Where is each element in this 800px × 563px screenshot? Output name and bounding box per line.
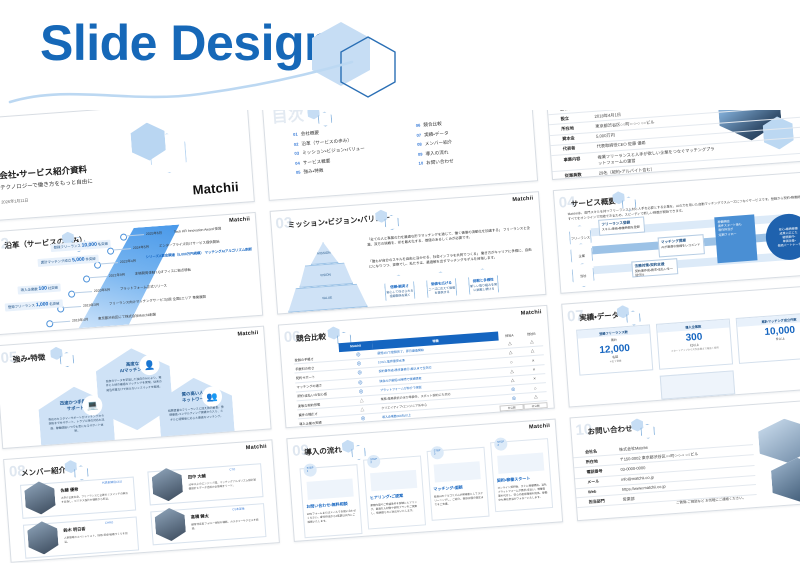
- watermark-logo: Matchii: [512, 196, 533, 204]
- slide-title: 強み・特徴: [12, 352, 45, 365]
- step-illustration: [370, 470, 417, 491]
- milestone-label: 登録フリーランス: [8, 303, 35, 309]
- rating-a: ◎: [502, 386, 524, 394]
- rating-matchii: ◎: [343, 378, 377, 386]
- milestone-unit: 社突破: [48, 286, 58, 291]
- rating-matchii: △: [345, 406, 379, 414]
- slide-title: 実績・データ: [579, 310, 620, 324]
- brand-logo: Matchii: [192, 179, 239, 197]
- stat-card-companies: 導入企業数 300 社以上 スタートアップから大手企業まで幅広く採用: [656, 318, 733, 369]
- milestone-chip: 累計マッチング成立 5,000 件突破: [37, 255, 99, 267]
- row-key: 設立: [548, 114, 594, 123]
- slide-thumbnail-cover[interactable]: 会社・サービス紹介資料 テクノロジーで働き方をもっと自由に 2026年1月11日…: [0, 98, 255, 221]
- row-value: 株式会社Matchii: [619, 444, 648, 452]
- milestone-value: 100: [38, 285, 47, 292]
- card-desc: 契約書作成・請求・支払いを一括代行: [635, 266, 676, 277]
- slide-thumbnail-service[interactable]: Matchii 04 サービス概要 Matchiiは、専門スキルを持つフリーラン…: [553, 170, 800, 293]
- slide-thumbnail-results[interactable]: Matchii 07 実績・データ 登録フリーランス数 累計 12,000 名超…: [561, 284, 800, 407]
- watermark-logo: Matchii: [521, 309, 542, 317]
- toc-number: 03: [294, 151, 299, 156]
- slide-thumbnail-strength[interactable]: Matchii 05 強み・特徴 高度な AIマッチング 独自のデータを学習した…: [0, 326, 272, 449]
- toc-label: 沿革（サービスの歩み）: [301, 137, 352, 147]
- timeline-connector: [89, 276, 107, 278]
- toc-number: 05: [296, 170, 301, 175]
- row-value: https://www.matchii.co.jp: [622, 484, 666, 492]
- watermark-logo: Matchii: [229, 216, 250, 224]
- rating-matchii: ◎: [343, 369, 377, 377]
- stat-card-extra: [660, 370, 736, 399]
- service-card-2: マッチング提案 AIが最適な候補をレコメンド: [658, 234, 705, 257]
- row-key: 電話番号: [574, 467, 620, 476]
- pyramid-level-value: VALUE: [286, 283, 368, 313]
- rating-a: △: [501, 377, 523, 385]
- slide-thumbnail-flow[interactable]: Matchii 09 導入の流れ STEP 1 お問い合わせ・無料相談 Webフ…: [286, 419, 563, 542]
- strength-desc: 専任のカスタマーサポートがマッチングから契約までをサポート。トラブル時の対応も迅…: [48, 414, 105, 434]
- toc-label: 実績・データ: [424, 130, 449, 138]
- row-key: 事業内容: [551, 154, 598, 169]
- milestone-unit: 件突破: [85, 257, 95, 262]
- rating-b: △: [521, 338, 543, 346]
- value-desc: 新しい取り組みを常に挑戦し続ける: [470, 282, 499, 292]
- toc-label: メンバー紹介: [425, 139, 453, 147]
- stat-card-matches: 累計マッチング成立件数 10,000 件以上: [736, 312, 800, 364]
- row-key: 資本金: [550, 134, 596, 143]
- strength-desc: 経験豊富なフリーランスに加え独自審査。登録審査・コンサルティング実績から入り、ス…: [168, 405, 225, 421]
- toc-number: 10: [418, 161, 423, 166]
- strength-desc: 独自のデータを学習した独自のAIにより、案件と人材の最適なマッチングを実現。従来…: [106, 376, 163, 392]
- cover-date: 2026年1月11日: [1, 198, 29, 206]
- rating-b: ×: [522, 357, 544, 364]
- toc-column-left: 01会社概要 02沿革（サービスの歩み） 03ミッション・ビジョン・バリュー 0…: [293, 124, 405, 179]
- col-head-b: 他社B: [520, 328, 543, 339]
- rating-matchii: ◎: [342, 360, 376, 368]
- actor-us: 当社: [571, 262, 595, 288]
- row-value: 営業部: [622, 495, 634, 502]
- slide-thumbnail-history[interactable]: Matchii 02 沿革（サービスの歩み） 2018年4月 東京都渋谷区にて株…: [0, 212, 263, 335]
- step-illustration: [434, 461, 481, 482]
- value-hex-2: 価値を広げる ニーズに応えて価値を提供する: [426, 270, 458, 305]
- watermark-logo: Matchii: [237, 330, 258, 338]
- toc-column-right: 06競合比較 07実績・データ 08メンバー紹介 09導入の流れ 10お問い合わ…: [416, 115, 528, 170]
- row-key: 所在地: [574, 457, 620, 466]
- toc-number: 04: [295, 160, 300, 165]
- rating-b: △: [525, 393, 547, 401]
- slide-thumbnail-mission[interactable]: Matchii 03 ミッション・ビジョン・バリュー MISSION VISIO…: [270, 191, 547, 314]
- rating-b: ○: [524, 385, 546, 392]
- rating-a: △: [499, 340, 521, 348]
- step-illustration: [307, 479, 354, 500]
- value-hex-3: 挑戦と多様性 新しい取り組みを常に挑戦し続ける: [467, 267, 499, 302]
- row-value: 5,000万円: [596, 133, 615, 140]
- toc-label: ミッション・ビジョン・バリュー: [302, 146, 365, 157]
- toc-label: お問い合わせ: [426, 158, 454, 166]
- pyramid-diagram: MISSION VISION VALUE: [283, 239, 366, 311]
- row-key: 会社名: [573, 447, 619, 456]
- milestone-value: 5,000: [72, 257, 85, 264]
- rating-b: 非公開: [523, 402, 547, 410]
- comparison-table: Matchii 特徴 他社A 他社B 登録の手軽さ◎最短3分で登録完了、即日審査…: [293, 328, 548, 428]
- milestone-unit: 名突破: [49, 302, 59, 307]
- service-card-1: フリーランス登録 スキル・単価・稼働時間を登録: [598, 216, 645, 235]
- toc-number: 07: [416, 132, 421, 137]
- milestone-value: 10,000: [81, 242, 97, 249]
- rating-a: ○: [500, 359, 522, 366]
- milestone-chip: 導入企業数 100 社突破: [17, 283, 61, 294]
- row-value: info@matchii.co.jp: [621, 475, 654, 483]
- member-role: CTO: [229, 467, 235, 471]
- milestone-unit: 名突破: [98, 242, 108, 247]
- row-value: 03-0000-0000: [620, 465, 645, 473]
- rating-a: 非公開: [499, 404, 523, 412]
- rating-matchii: ◎: [344, 387, 378, 395]
- row-key: 従業員数: [553, 170, 599, 179]
- toc-label: 導入の流れ: [425, 149, 448, 157]
- timeline-text: Tech HR Innovation Award 受賞: [174, 225, 222, 233]
- pyramid-level-mission: MISSION: [309, 241, 339, 265]
- row-key: 代表者: [551, 144, 597, 153]
- stat-card-freelancers: 登録フリーランス数 累計 12,000 名超 ※全て登録: [576, 324, 653, 375]
- rating-matchii: △: [345, 396, 379, 404]
- slide-thumbnail-members[interactable]: Matchii 08 メンバー紹介 代表取締役CEO 佐藤 優希 大手IT企業出…: [3, 439, 280, 562]
- value-hex-1: 信頼・誠実さ 安心して任せられる信頼関係を築く: [384, 274, 416, 309]
- timeline-connector: [74, 291, 92, 293]
- page-header: Slide Design: [0, 0, 800, 110]
- milestone-chip: 登録フリーランス 1,000 名突破: [5, 299, 63, 311]
- rating-matchii: ◎: [341, 351, 375, 359]
- vision-text: 「誰もが自分のスキルを自由に活かせる、社会インフラを共同でつくる」 働き方がキャ…: [368, 248, 532, 270]
- milestone-value: 1,000: [36, 301, 49, 308]
- member-role: CHRO: [105, 520, 114, 525]
- value-desc: 安心して任せられる信頼関係を築く: [386, 289, 415, 299]
- toc-label: 強み・特徴: [303, 168, 323, 175]
- slide-title: ミッション・ビジョン・バリュー: [287, 212, 390, 230]
- rating-b: ×: [523, 375, 545, 382]
- col-head-a: 他社A: [498, 330, 521, 341]
- service-panel: 稼働開始 案件スタート後も 専任担当が 定期フォロー: [714, 214, 757, 263]
- toc-number: 06: [416, 123, 421, 128]
- wave-divider-icon: [0, 60, 400, 110]
- slide-thumbnail-compare[interactable]: Matchii 06 競合比較 Matchii 特徴 他社A 他社B 登録の手軽…: [278, 305, 555, 428]
- slide-title: サービス概要: [571, 196, 617, 210]
- toc-number: 08: [417, 142, 422, 147]
- flow-band: [594, 252, 794, 275]
- timeline-connector: [52, 321, 70, 323]
- timeline-connector: [63, 306, 81, 308]
- watermark-logo: Matchii: [529, 423, 550, 431]
- step-illustration: [497, 453, 544, 474]
- slide-title: 導入の流れ: [304, 444, 342, 458]
- slide-title: メンバー紹介: [21, 465, 67, 479]
- rating-a: △: [501, 367, 523, 375]
- row-key: 所在地: [549, 124, 595, 133]
- toc-label: サービス概要: [303, 158, 331, 166]
- slide-thumbnail-contact[interactable]: Matchii 10 お問い合わせ 会社名株式会社Matchii 所在地〒150…: [570, 398, 800, 521]
- toc-number: 09: [418, 151, 423, 156]
- rating-b: △: [521, 347, 543, 355]
- milestone-label: 登録フリーランス: [54, 244, 81, 250]
- service-card-3: 法務対策・契約支援 契約書作成・請求・支払いを一括代行: [631, 258, 678, 277]
- slide-title: 競合比較: [296, 331, 327, 344]
- rating-a: △: [499, 349, 521, 357]
- rating-a: ◎: [503, 395, 525, 403]
- toc-label: 会社概要: [301, 130, 320, 137]
- watermark-logo: Matchii: [246, 444, 267, 452]
- toc-number: 02: [294, 141, 299, 146]
- value-desc: ニーズに応えて価値を提供する: [428, 285, 457, 295]
- row-key: メール: [575, 477, 621, 486]
- milestone-label: 導入企業数: [21, 287, 38, 292]
- row-value: 2018年4月1日: [594, 112, 621, 120]
- toc-number: 01: [293, 132, 298, 137]
- row-value: 29名（契約・アルバイト含む）: [599, 166, 656, 176]
- slide-deck-grid: 会社・サービス紹介資料 テクノロジーで働き方をもっと自由に 2026年1月11日…: [0, 56, 800, 497]
- rating-matchii: ◎: [346, 415, 380, 423]
- toc-label: 競合比較: [423, 121, 442, 128]
- slide-title: お問い合わせ: [587, 423, 633, 437]
- milestone-label: 累計マッチング成立: [41, 259, 72, 265]
- pyramid-level-vision: VISION: [298, 262, 353, 288]
- hexagon-decor-outline-icon: [317, 111, 332, 127]
- rating-b: ×: [523, 366, 545, 373]
